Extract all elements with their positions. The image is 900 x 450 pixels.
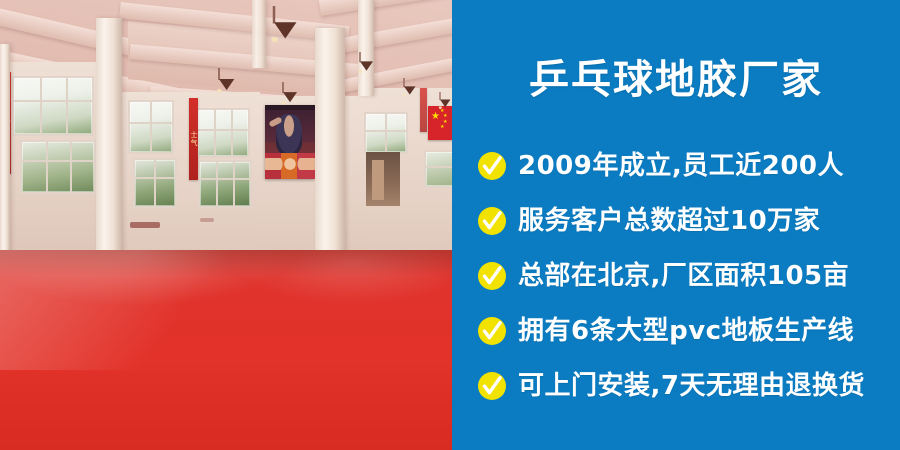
- list-item-label: 2009年成立,员工近200人: [518, 151, 844, 181]
- doorway: [366, 152, 400, 206]
- list-item-label: 总部在北京,厂区面积105亩: [518, 261, 849, 291]
- window: [12, 76, 94, 136]
- floor-mark: [130, 222, 160, 228]
- window: [198, 160, 252, 208]
- list-item: 服务客户总数超过10万家: [477, 193, 890, 248]
- window: [424, 150, 452, 188]
- list-item: 可上门安装,7天无理由退换货: [477, 358, 890, 413]
- wall-banner-strip: 士气: [189, 98, 198, 180]
- floor-mark: [200, 218, 214, 222]
- structural-column: [358, 0, 374, 96]
- red-pvc-floor: [0, 250, 452, 450]
- ceiling-beam: [319, 0, 452, 16]
- promo-banner: ★ ★ ★ ★ ★ 国风神州 勇气壮志 士气 乒乓球地胶厂家: [0, 0, 900, 450]
- check-circle-icon: [477, 316, 507, 346]
- check-circle-icon: [477, 206, 507, 236]
- structural-column: [252, 0, 266, 68]
- list-item-label: 服务客户总数超过10万家: [518, 206, 820, 236]
- list-item: 总部在北京,厂区面积105亩: [477, 248, 890, 303]
- floor-reflection: [0, 250, 240, 370]
- list-item: 2009年成立,员工近200人: [477, 138, 890, 193]
- feature-list: 2009年成立,员工近200人 服务客户总数超过10万家: [477, 138, 890, 413]
- structural-column: [96, 18, 122, 274]
- check-circle-icon: [477, 261, 507, 291]
- check-circle-icon: [477, 151, 507, 181]
- china-flag-icon: ★ ★ ★ ★ ★: [428, 106, 452, 140]
- structural-column: [0, 44, 10, 274]
- gym-interior-photo: ★ ★ ★ ★ ★ 国风神州 勇气壮志 士气: [0, 0, 452, 450]
- list-item-label: 拥有6条大型pvc地板生产线: [518, 316, 854, 346]
- list-item: 拥有6条大型pvc地板生产线: [477, 303, 890, 358]
- window: [196, 108, 250, 158]
- window: [364, 112, 408, 154]
- window: [133, 158, 177, 208]
- wall-banner-strip: [420, 88, 427, 132]
- page-title: 乒乓球地胶厂家: [452, 55, 900, 105]
- list-item-label: 可上门安装,7天无理由退换货: [518, 371, 865, 401]
- window: [20, 140, 96, 194]
- table-tennis-poster: [265, 105, 315, 179]
- window: [128, 100, 174, 154]
- info-panel: 乒乓球地胶厂家 2009年成立,员工近200人: [452, 0, 900, 450]
- check-circle-icon: [477, 371, 507, 401]
